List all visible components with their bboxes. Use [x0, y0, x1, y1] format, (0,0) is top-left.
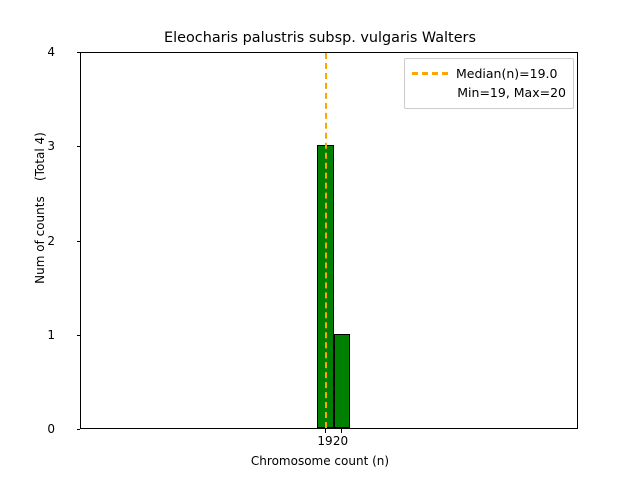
legend-entry-minmax: Min=19, Max=20: [412, 83, 566, 102]
dashed-line-icon: [412, 72, 448, 75]
legend-entry-median: Median(n)=19.0: [412, 64, 566, 83]
xtick-label-20: 20: [321, 435, 361, 448]
y-axis-label: Num of counts (Total 4): [32, 18, 48, 398]
legend: Median(n)=19.0 Min=19, Max=20: [404, 58, 574, 109]
xtick-mark-19: [325, 429, 326, 433]
ytick-mark-0: [77, 429, 81, 430]
figure-canvas: Eleocharis palustris subsp. vulgaris Wal…: [0, 0, 640, 480]
median-line: [325, 53, 327, 428]
ytick-label-0: 0: [0, 423, 55, 435]
chart-title: Eleocharis palustris subsp. vulgaris Wal…: [0, 30, 640, 47]
xtick-mark-20: [341, 429, 342, 433]
legend-label-median: Median(n)=19.0: [456, 66, 557, 81]
legend-label-minmax: Min=19, Max=20: [457, 85, 566, 100]
x-axis-label: Chromosome count (n): [0, 454, 640, 468]
bar-20: [334, 334, 351, 428]
